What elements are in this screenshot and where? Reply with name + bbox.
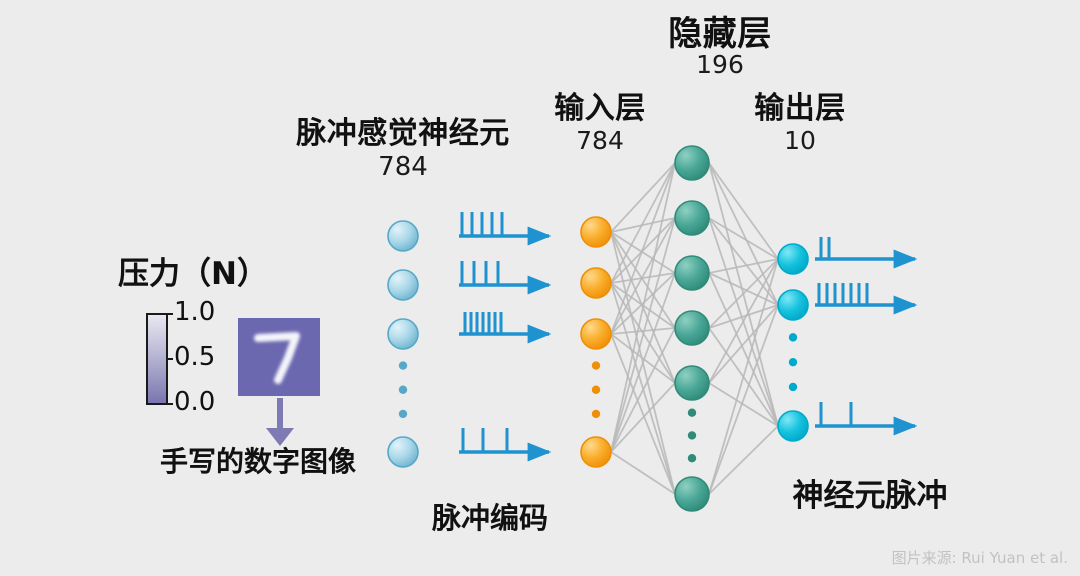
node-input-1 (581, 217, 611, 247)
connection-line (611, 232, 675, 494)
hidden-layer-count: 196 (600, 50, 840, 79)
pressure-colorbar: 1.0 0.5 0.0 (146, 313, 170, 405)
connection-line (709, 259, 778, 383)
sensory-neuron-count: 784 (258, 152, 548, 182)
connection-line (709, 259, 778, 494)
connection-line (611, 283, 675, 494)
node-input-2 (581, 268, 611, 298)
pressure-axis-label: 压力（N） (118, 248, 318, 293)
connection-line (611, 273, 675, 334)
colorbar-tick-bottom (168, 403, 173, 405)
node-input-4 (581, 437, 611, 467)
connection-line (611, 163, 675, 232)
ellipsis-dot-input-1 (592, 361, 600, 369)
connection-line (611, 232, 675, 383)
node-sensory-1 (388, 221, 418, 251)
connection-line (611, 218, 675, 283)
node-sensory-4 (388, 437, 418, 467)
connection-line (611, 283, 675, 383)
ellipsis-dot-sensory-3 (399, 410, 407, 418)
ellipsis-dot-sensory-2 (399, 386, 407, 394)
spike-trains (459, 212, 915, 452)
connection-line (709, 163, 778, 426)
ellipsis-dot-hidden-3 (688, 454, 696, 462)
connection-line (709, 163, 778, 259)
ellipsis-dot-output-1 (789, 333, 797, 341)
connection-line (611, 328, 675, 452)
colorbar-tick-mid (168, 358, 173, 360)
node-sensory-3 (388, 319, 418, 349)
hidden-layer-title: 隐藏层 (600, 6, 840, 55)
connection-line (709, 383, 778, 426)
node-hidden-4 (675, 311, 709, 345)
spike-train-in-1 (459, 212, 549, 236)
node-hidden-2 (675, 201, 709, 235)
ellipsis-dot-output-3 (789, 383, 797, 391)
node-input-3 (581, 319, 611, 349)
connection-line (709, 218, 778, 305)
output-layer-title: 输出层 (710, 83, 890, 127)
neuron-spikes-label: 神经元脉冲 (755, 470, 985, 515)
ellipsis-dot-hidden-1 (688, 408, 696, 416)
spike-train-out-3 (815, 402, 915, 426)
network-connections (611, 163, 778, 494)
connection-line (611, 163, 675, 334)
figure-canvas: 隐藏层 196 输入层 784 输出层 10 脉冲感觉神经元 784 压力（N）… (0, 0, 1080, 576)
connection-line (611, 334, 675, 494)
connection-line (709, 328, 778, 426)
ellipsis-dot-sensory-1 (399, 361, 407, 369)
output-layer-count: 10 (710, 126, 890, 155)
connection-line (611, 273, 675, 452)
colorbar-gradient (146, 313, 168, 405)
colorbar-label-2: 0.5 (174, 344, 215, 370)
ellipsis-dot-input-3 (592, 410, 600, 418)
ellipsis-dot-hidden-2 (688, 431, 696, 439)
connection-line (709, 305, 778, 328)
spike-train-in-2 (459, 261, 549, 285)
connection-line (611, 328, 675, 334)
colorbar-label-1: 1.0 (174, 299, 215, 325)
node-output-1 (778, 244, 808, 274)
connection-line (709, 218, 778, 259)
connection-line (709, 273, 778, 426)
network-nodes (388, 146, 808, 511)
sensory-neuron-title: 脉冲感觉神经元 (258, 108, 548, 152)
connection-line (611, 232, 675, 328)
node-hidden-3 (675, 256, 709, 290)
connection-line (611, 218, 675, 232)
connection-line (611, 218, 675, 452)
handwritten-image-label: 手写的数字图像 (128, 440, 388, 480)
colorbar-label-3: 0.0 (174, 389, 215, 415)
connection-line (709, 163, 778, 305)
node-output-2 (778, 290, 808, 320)
spike-train-in-3 (459, 312, 549, 334)
node-hidden-6 (675, 477, 709, 511)
connection-line (611, 163, 675, 452)
digit-7-glyph (238, 318, 320, 396)
spike-encoding-label: 脉冲编码 (400, 495, 580, 537)
ellipsis-dot-output-2 (789, 358, 797, 366)
connection-line (709, 259, 778, 273)
spike-train-out-2 (815, 283, 915, 305)
connection-line (709, 305, 778, 383)
colorbar-tick-top (168, 313, 173, 315)
spike-train-in-4 (459, 428, 549, 452)
node-hidden-5 (675, 366, 709, 400)
connection-line (709, 273, 778, 305)
connection-line (709, 218, 778, 426)
connection-line (611, 232, 675, 273)
connection-line (709, 259, 778, 328)
node-output-3 (778, 411, 808, 441)
connection-line (709, 305, 778, 494)
connection-line (611, 273, 675, 283)
connection-line (611, 334, 675, 383)
node-sensory-2 (388, 270, 418, 300)
connection-line (611, 163, 675, 283)
ellipsis-dot-input-2 (592, 386, 600, 394)
connection-line (611, 452, 675, 494)
spike-train-out-1 (815, 237, 915, 259)
connection-line (611, 218, 675, 334)
mnist-digit-image (238, 318, 320, 396)
source-watermark: 图片来源: Rui Yuan et al. (892, 547, 1068, 568)
connection-line (611, 283, 675, 328)
connection-line (611, 383, 675, 452)
